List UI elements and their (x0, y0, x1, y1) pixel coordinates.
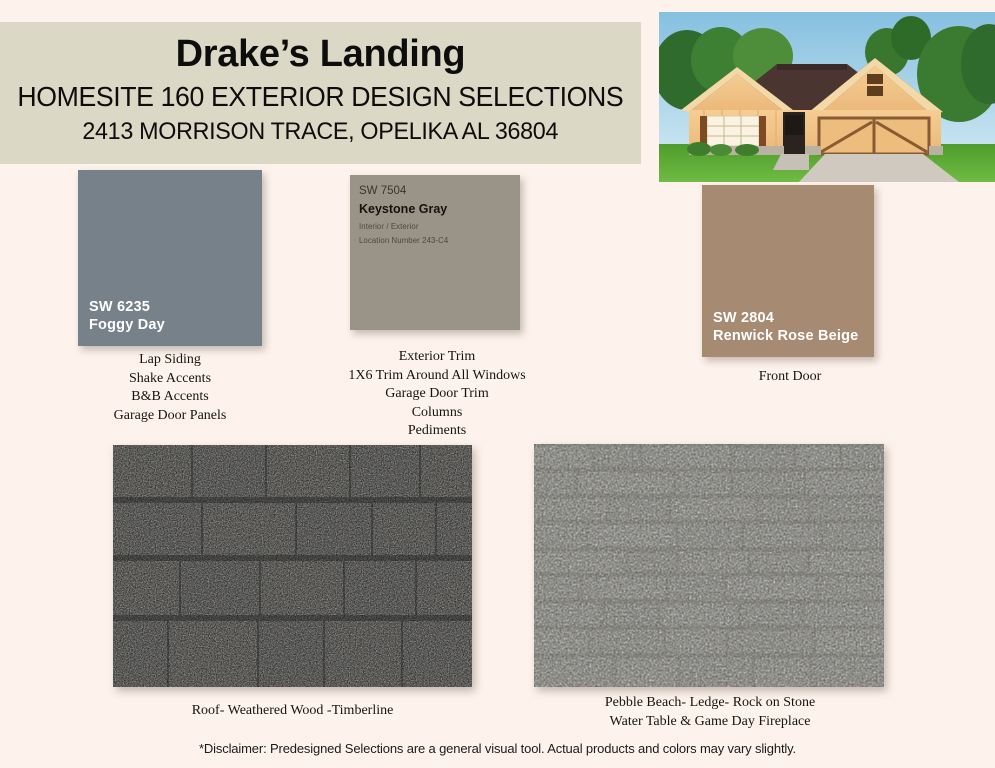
usage-item: Garage Door Panels (58, 407, 282, 426)
material-caption-stone: Pebble Beach- Ledge- Rock on Stone Water… (530, 694, 890, 732)
usage-item: Lap Siding (58, 351, 282, 370)
caption-line: Roof- Weathered Wood -Timberline (110, 702, 475, 721)
material-caption-roof: Roof- Weathered Wood -Timberline (110, 702, 475, 721)
usage-list-keystone-gray: Exterior Trim 1X6 Trim Around All Window… (325, 348, 549, 441)
shingle-texture-svg (113, 445, 472, 687)
swatch-code: SW 7504 (359, 184, 448, 200)
color-swatch-keystone-gray: SW 7504 Keystone Gray Interior / Exterio… (350, 175, 520, 330)
swatch-code: SW 6235 (89, 298, 165, 316)
house-elevation-photo (659, 12, 995, 182)
swatch-name: Foggy Day (89, 316, 165, 334)
material-swatch-roof-shingle (113, 445, 472, 687)
usage-item: Shake Accents (58, 370, 282, 389)
disclaimer-text: *Disclaimer: Predesigned Selections are … (0, 741, 995, 756)
usage-item: Pediments (325, 422, 549, 441)
swatch-name: Renwick Rose Beige (713, 327, 858, 345)
page-title: Drake’s Landing (176, 33, 466, 77)
usage-item: 1X6 Trim Around All Windows (325, 367, 549, 386)
swatch-label: SW 2804 Renwick Rose Beige (713, 309, 858, 345)
caption-line: Water Table & Game Day Fireplace (530, 713, 890, 732)
usage-item: Exterior Trim (325, 348, 549, 367)
usage-list-renwick-rose-beige: Front Door (700, 368, 880, 387)
usage-item: Front Door (700, 368, 880, 387)
ledgestone-texture-svg (534, 444, 884, 687)
caption-line: Pebble Beach- Ledge- Rock on Stone (530, 694, 890, 713)
page-subtitle-primary: HOMESITE 160 EXTERIOR DESIGN SELECTIONS (18, 81, 624, 113)
swatch-label: SW 7504 Keystone Gray Interior / Exterio… (359, 184, 448, 246)
header-band: Drake’s Landing HOMESITE 160 EXTERIOR DE… (0, 22, 641, 164)
usage-item: B&B Accents (58, 388, 282, 407)
swatch-code: SW 2804 (713, 309, 858, 327)
material-swatch-stone-veneer (534, 444, 884, 687)
swatch-name: Keystone Gray (359, 201, 448, 218)
house-rendering-svg (659, 12, 995, 182)
color-swatch-foggy-day: SW 6235 Foggy Day (78, 170, 262, 346)
usage-list-foggy-day: Lap Siding Shake Accents B&B Accents Gar… (58, 351, 282, 425)
swatch-label: SW 6235 Foggy Day (89, 298, 165, 334)
page-subtitle-address: 2413 MORRISON TRACE, OPELIKA AL 36804 (83, 118, 559, 146)
usage-item: Columns (325, 404, 549, 423)
swatch-location-number: Location Number 243-C4 (359, 236, 448, 247)
usage-item: Garage Door Trim (325, 385, 549, 404)
color-swatch-renwick-rose-beige: SW 2804 Renwick Rose Beige (702, 185, 874, 357)
swatch-interior-exterior: Interior / Exterior (359, 222, 448, 233)
